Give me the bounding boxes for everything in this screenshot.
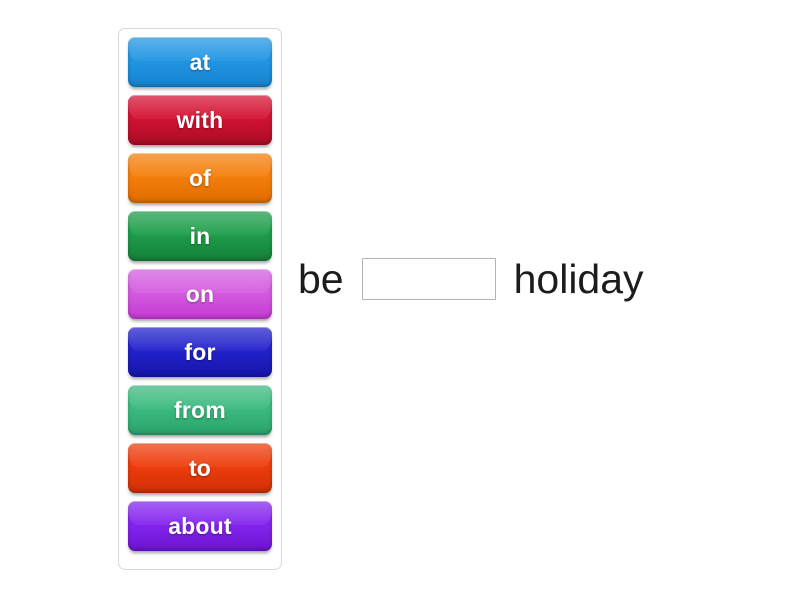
sentence-suffix-word: holiday bbox=[514, 259, 644, 300]
word-tile-of[interactable]: of bbox=[128, 153, 272, 203]
answer-drop-slot[interactable] bbox=[362, 258, 496, 300]
word-tile-label: from bbox=[174, 399, 226, 422]
word-bank: atwithofinonforfromtoabout bbox=[118, 28, 282, 570]
sentence-line: be holiday bbox=[298, 258, 644, 300]
sentence-prefix-word: be bbox=[298, 259, 344, 300]
word-tile-about[interactable]: about bbox=[128, 501, 272, 551]
word-tile-at[interactable]: at bbox=[128, 37, 272, 87]
word-tile-label: of bbox=[189, 167, 211, 190]
word-tile-on[interactable]: on bbox=[128, 269, 272, 319]
word-tile-label: to bbox=[189, 457, 211, 480]
word-tile-label: for bbox=[184, 341, 215, 364]
word-tile-label: about bbox=[168, 515, 232, 538]
activity-stage: atwithofinonforfromtoabout be holiday bbox=[0, 0, 800, 600]
word-tile-to[interactable]: to bbox=[128, 443, 272, 493]
word-tile-label: on bbox=[186, 283, 215, 306]
word-tile-for[interactable]: for bbox=[128, 327, 272, 377]
word-tile-label: with bbox=[177, 109, 224, 132]
word-tile-from[interactable]: from bbox=[128, 385, 272, 435]
word-tile-in[interactable]: in bbox=[128, 211, 272, 261]
word-tile-with[interactable]: with bbox=[128, 95, 272, 145]
word-tile-label: at bbox=[190, 51, 211, 74]
word-tile-label: in bbox=[190, 225, 211, 248]
